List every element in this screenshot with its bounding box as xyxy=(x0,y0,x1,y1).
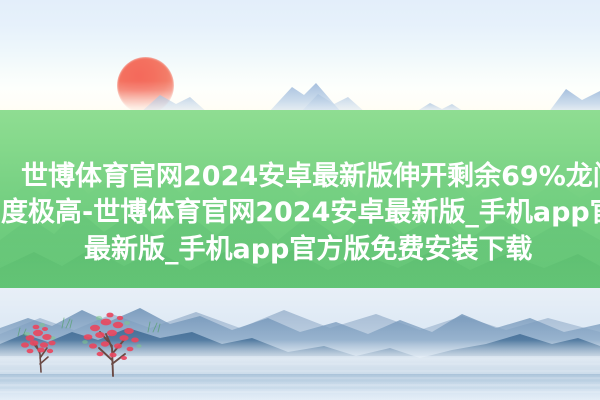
misty-mountain-landscape xyxy=(0,288,600,400)
lake-band xyxy=(0,288,600,400)
green-band xyxy=(0,110,600,289)
poster-image: 世博体育官网2024安卓最新版伸开剩余69%龙门 识度极高-世博体育官网2024… xyxy=(0,0,600,400)
sky-band xyxy=(0,0,600,113)
distant-peaks-silhouette xyxy=(0,73,600,113)
karst-hills-silhouette xyxy=(0,110,600,289)
